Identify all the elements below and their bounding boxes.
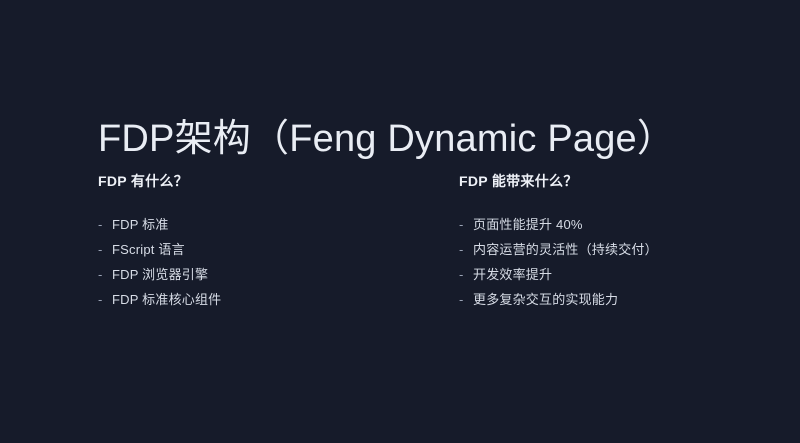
list-item-label: 开发效率提升 xyxy=(473,262,552,287)
bullet-dash-icon: - xyxy=(459,237,473,262)
list-item: - 更多复杂交互的实现能力 xyxy=(459,287,789,312)
column-heading-benefits: FDP 能带来什么？ xyxy=(459,172,789,190)
list-item: - 页面性能提升 40% xyxy=(459,212,789,237)
list-item-label: 更多复杂交互的实现能力 xyxy=(473,287,618,312)
bullet-dash-icon: - xyxy=(98,262,112,287)
list-item-label: 页面性能提升 40% xyxy=(473,212,583,237)
column-features: FDP 有什么？ - FDP 标准 - FScript 语言 - FDP 浏览器… xyxy=(98,172,428,312)
bullet-dash-icon: - xyxy=(98,287,112,312)
bullet-dash-icon: - xyxy=(98,212,112,237)
column-benefits: FDP 能带来什么？ - 页面性能提升 40% - 内容运营的灵活性（持续交付）… xyxy=(459,172,789,312)
bullet-dash-icon: - xyxy=(459,287,473,312)
list-item: - FDP 标准 xyxy=(98,212,428,237)
list-item-label: 内容运营的灵活性（持续交付） xyxy=(473,237,658,262)
list-item: - FScript 语言 xyxy=(98,237,428,262)
list-item: - 开发效率提升 xyxy=(459,262,789,287)
list-item: - 内容运营的灵活性（持续交付） xyxy=(459,237,789,262)
bullet-dash-icon: - xyxy=(98,237,112,262)
column-heading-features: FDP 有什么？ xyxy=(98,172,428,190)
bullet-dash-icon: - xyxy=(459,212,473,237)
bullet-dash-icon: - xyxy=(459,262,473,287)
content-columns: FDP 有什么？ - FDP 标准 - FScript 语言 - FDP 浏览器… xyxy=(0,172,800,332)
list-item: - FDP 浏览器引擎 xyxy=(98,262,428,287)
list-item-label: FDP 标准 xyxy=(112,212,169,237)
page-title: FDP架构（Feng Dynamic Page） xyxy=(98,117,675,161)
list-item-label: FDP 标准核心组件 xyxy=(112,287,221,312)
list-item-label: FDP 浏览器引擎 xyxy=(112,262,208,287)
presentation-slide: FDP架构（Feng Dynamic Page） FDP 有什么？ - FDP … xyxy=(0,0,800,443)
bullet-list-benefits: - 页面性能提升 40% - 内容运营的灵活性（持续交付） - 开发效率提升 -… xyxy=(459,212,789,312)
list-item-label: FScript 语言 xyxy=(112,237,185,262)
list-item: - FDP 标准核心组件 xyxy=(98,287,428,312)
bullet-list-features: - FDP 标准 - FScript 语言 - FDP 浏览器引擎 - FDP … xyxy=(98,212,428,312)
